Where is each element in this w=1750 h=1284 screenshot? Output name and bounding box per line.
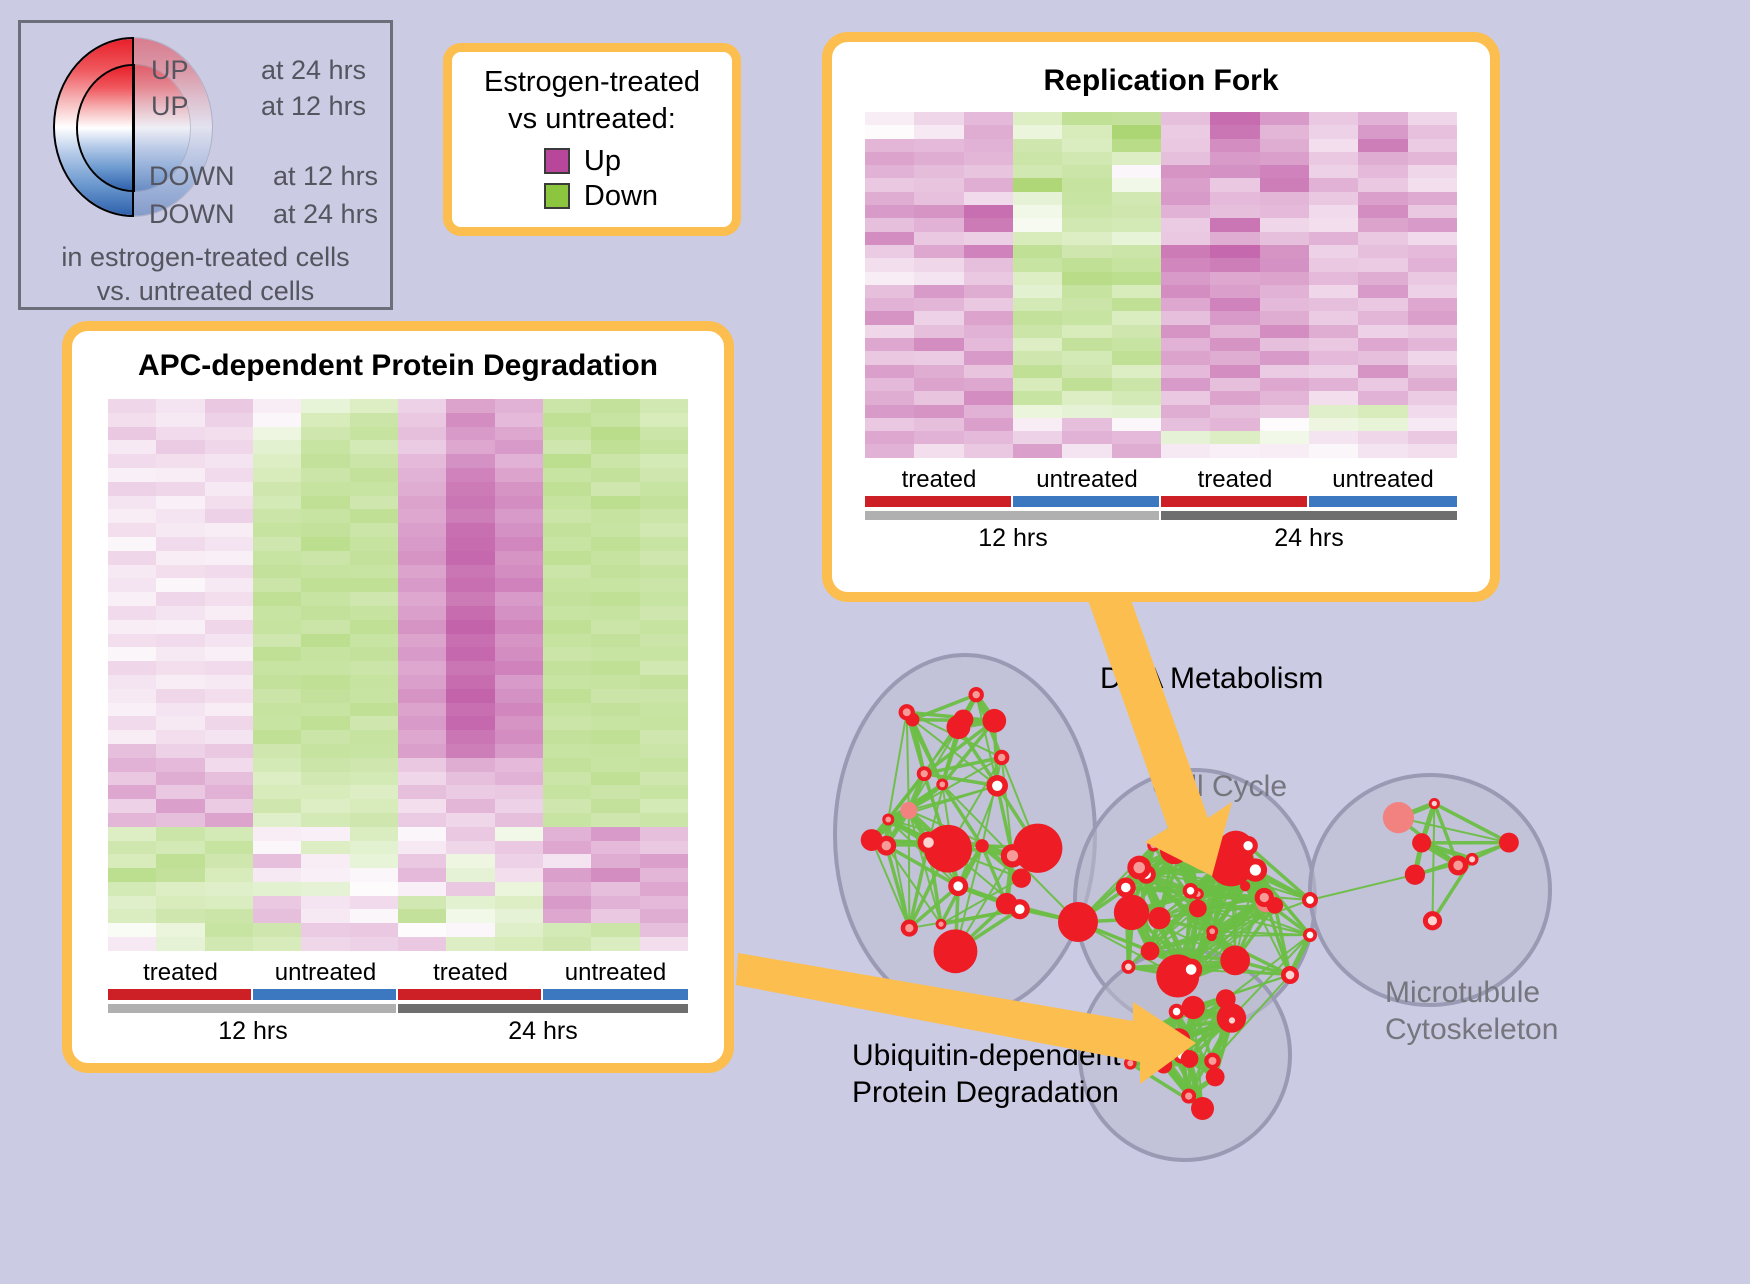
heatmap-cell xyxy=(1260,378,1309,391)
heatmap-cell xyxy=(865,165,914,178)
heatmap-cell xyxy=(205,509,253,523)
heatmap-cell xyxy=(865,192,914,205)
heatmap-cell xyxy=(446,440,494,454)
heatmap-cell xyxy=(495,551,543,565)
heatmap-cell xyxy=(253,744,301,758)
heatmap-cell xyxy=(914,444,963,457)
time-color-bar xyxy=(1161,511,1457,520)
heatmap-cell xyxy=(1358,365,1407,378)
heatmap-cell xyxy=(1013,338,1062,351)
heatmap-cell xyxy=(1112,112,1161,125)
heatmap-cell xyxy=(1062,431,1111,444)
heatmap-cell xyxy=(1210,245,1259,258)
heatmap-cell xyxy=(253,634,301,648)
network-node xyxy=(1182,996,1205,1019)
time-label: 24 hrs xyxy=(398,1017,688,1046)
heatmap-cell xyxy=(253,454,301,468)
heatmap-cell xyxy=(253,854,301,868)
heatmap-cell xyxy=(1161,378,1210,391)
heatmap-cell xyxy=(495,730,543,744)
heatmap-cell xyxy=(1161,311,1210,324)
network-node-core xyxy=(1125,964,1132,971)
heatmap-cell xyxy=(350,620,398,634)
heatmap-cell xyxy=(1161,205,1210,218)
heatmap-cell xyxy=(446,716,494,730)
heatmap-cell xyxy=(1358,192,1407,205)
heatmap-cell xyxy=(495,565,543,579)
heatmap-cell xyxy=(1309,218,1358,231)
heatmap-cell xyxy=(1013,139,1062,152)
heatmap-cell xyxy=(1210,351,1259,364)
heatmap-cell xyxy=(495,468,543,482)
heatmap-cell xyxy=(1260,418,1309,431)
heatmap-cell xyxy=(964,178,1013,191)
heatmap-cell xyxy=(156,799,204,813)
up-down-scale-diagram xyxy=(53,37,213,222)
heatmap-cell xyxy=(591,813,639,827)
heatmap-cell xyxy=(1013,418,1062,431)
heatmap-cell xyxy=(591,509,639,523)
heatmap-cell xyxy=(640,841,688,855)
heatmap-cell xyxy=(1112,418,1161,431)
heatmap-cell xyxy=(205,592,253,606)
heatmap-cell xyxy=(301,620,349,634)
legend-caption-line1: in estrogen-treated cells xyxy=(21,241,390,275)
heatmap-cell xyxy=(156,454,204,468)
heatmap-cell xyxy=(640,827,688,841)
heatmap-cell xyxy=(1358,245,1407,258)
heatmap-cell xyxy=(1013,272,1062,285)
heatmap-cell xyxy=(253,482,301,496)
heatmap-cell xyxy=(398,909,446,923)
heatmap-cell xyxy=(253,592,301,606)
heatmap-cell xyxy=(1013,298,1062,311)
heatmap-cell xyxy=(1309,391,1358,404)
heatmap-cell xyxy=(398,744,446,758)
heatmap-cell xyxy=(543,523,591,537)
heatmap-cell xyxy=(398,661,446,675)
heatmap-cell xyxy=(964,218,1013,231)
heatmap-cell xyxy=(640,937,688,951)
heatmap-cell xyxy=(398,841,446,855)
legend-time-up-12: at 12 hrs xyxy=(261,91,366,122)
heatmap-cell xyxy=(865,298,914,311)
heatmap-cell xyxy=(1408,139,1457,152)
heatmap-cell xyxy=(1112,258,1161,271)
heatmap-cell xyxy=(495,454,543,468)
heatmap-cell xyxy=(1309,418,1358,431)
heatmap-cell xyxy=(253,758,301,772)
heatmap-cell xyxy=(253,468,301,482)
heatmap-cell xyxy=(446,882,494,896)
heatmap-cell xyxy=(495,785,543,799)
heatmap-cell xyxy=(1408,378,1457,391)
legend-key-up-24: UP xyxy=(151,55,189,86)
heatmap-cell xyxy=(156,620,204,634)
heatmap-cell xyxy=(253,551,301,565)
heatmap-cell xyxy=(1408,311,1457,324)
heatmap-cell xyxy=(108,468,156,482)
heatmap-cell xyxy=(543,841,591,855)
heatmap-cell xyxy=(446,827,494,841)
heatmap-cell xyxy=(108,537,156,551)
heatmap-cell xyxy=(964,258,1013,271)
condition-color-bar xyxy=(253,989,398,1000)
heatmap-cell xyxy=(964,325,1013,338)
heatmap-cell xyxy=(865,378,914,391)
heatmap-cell xyxy=(301,634,349,648)
heatmap-cell xyxy=(543,716,591,730)
legend-time-down-12: at 12 hrs xyxy=(273,161,378,192)
heatmap-cell xyxy=(1309,444,1358,457)
heatmap-cell xyxy=(446,703,494,717)
heatmap-cell xyxy=(253,496,301,510)
network-node-core xyxy=(1121,883,1131,893)
network-node-core xyxy=(921,770,928,777)
heatmap-cell xyxy=(108,923,156,937)
heatmap-cell xyxy=(591,675,639,689)
heatmap-cell xyxy=(1112,218,1161,231)
heatmap-cell xyxy=(1161,218,1210,231)
heatmap-cell xyxy=(301,661,349,675)
heatmap-cell xyxy=(1210,232,1259,245)
heatmap-cell xyxy=(301,799,349,813)
heatmap-cell xyxy=(591,647,639,661)
heatmap-cell xyxy=(350,882,398,896)
heatmap-cell xyxy=(1210,405,1259,418)
heatmap-cell xyxy=(495,440,543,454)
heatmap-cell xyxy=(1013,192,1062,205)
heatmap-cell xyxy=(301,758,349,772)
heatmap-cell xyxy=(350,785,398,799)
network-node xyxy=(1405,865,1425,885)
heatmap-cell xyxy=(1013,365,1062,378)
heatmap-cell xyxy=(591,758,639,772)
heatmap-cell xyxy=(914,325,963,338)
heatmap-cell xyxy=(640,620,688,634)
heatmap-cell xyxy=(1062,232,1111,245)
heatmap-cell xyxy=(543,606,591,620)
heatmap-cell xyxy=(446,661,494,675)
heatmap-cell xyxy=(1161,325,1210,338)
heatmap-cell xyxy=(964,112,1013,125)
heatmap-cell xyxy=(591,799,639,813)
heatmap-cell xyxy=(1309,125,1358,138)
heatmap-cell xyxy=(156,730,204,744)
heatmap-cell xyxy=(1161,112,1210,125)
heatmap-cell xyxy=(301,427,349,441)
heatmap-cell xyxy=(253,909,301,923)
heatmap-cell xyxy=(1210,272,1259,285)
heatmap-cell xyxy=(301,937,349,951)
heatmap-cell xyxy=(591,703,639,717)
heatmap-cell xyxy=(301,523,349,537)
heatmap-cell xyxy=(398,813,446,827)
heatmap-cell xyxy=(495,523,543,537)
heatmap-cell xyxy=(591,427,639,441)
heatmap-cell xyxy=(108,785,156,799)
heatmap-cell xyxy=(398,716,446,730)
heatmap-cell xyxy=(640,468,688,482)
heatmap-cell xyxy=(301,509,349,523)
heatmap-cell xyxy=(1408,325,1457,338)
heatmap-cell xyxy=(1358,139,1407,152)
heatmap-cell xyxy=(640,758,688,772)
heatmap-cell xyxy=(543,565,591,579)
heatmap-cell xyxy=(398,923,446,937)
apc-degradation-heatmap xyxy=(108,399,688,951)
heatmap-cell xyxy=(1309,351,1358,364)
network-node xyxy=(1216,989,1236,1009)
heatmap-cell xyxy=(865,112,914,125)
heatmap-cell xyxy=(156,509,204,523)
heatmap-cell xyxy=(301,785,349,799)
heatmap-cell xyxy=(591,909,639,923)
heatmap-cell xyxy=(640,854,688,868)
network-node-core xyxy=(1007,850,1018,861)
heatmap-cell xyxy=(446,758,494,772)
heatmap-cell xyxy=(495,854,543,868)
heatmap-cell xyxy=(591,689,639,703)
heatmap-cell xyxy=(446,551,494,565)
heatmap-cell xyxy=(301,730,349,744)
heatmap-cell xyxy=(495,909,543,923)
heatmap-cell xyxy=(865,338,914,351)
heatmap-cell xyxy=(108,703,156,717)
heatmap-cell xyxy=(108,937,156,951)
heatmap-cell xyxy=(591,440,639,454)
heatmap-cell xyxy=(640,896,688,910)
heatmap-cell xyxy=(1062,272,1111,285)
network-node xyxy=(1147,1036,1169,1058)
heatmap-cell xyxy=(350,758,398,772)
heatmap-cell xyxy=(543,592,591,606)
heatmap-cell xyxy=(1408,165,1457,178)
heatmap-cell xyxy=(1358,285,1407,298)
heatmap-cell xyxy=(1260,218,1309,231)
heatmap-cell xyxy=(1309,311,1358,324)
heatmap-cell xyxy=(543,703,591,717)
microtubule-line2: Cytoskeleton xyxy=(1385,1012,1558,1049)
heatmap-cell xyxy=(398,882,446,896)
heatmap-cell xyxy=(1112,152,1161,165)
heatmap-cell xyxy=(1309,165,1358,178)
heatmap-cell xyxy=(1062,298,1111,311)
network-node-core xyxy=(973,691,980,698)
heatmap-cell xyxy=(1013,431,1062,444)
heatmap-cell xyxy=(156,882,204,896)
heatmap-cell xyxy=(108,813,156,827)
heatmap-cell xyxy=(1408,232,1457,245)
heatmap-cell xyxy=(1358,152,1407,165)
heatmap-cell xyxy=(398,565,446,579)
heatmap-cell xyxy=(108,744,156,758)
updown-legend-title: Estrogen-treated vs untreated: xyxy=(484,64,700,137)
heatmap-cell xyxy=(640,689,688,703)
heatmap-cell xyxy=(640,647,688,661)
heatmap-cell xyxy=(446,854,494,868)
time-label: 24 hrs xyxy=(1161,524,1457,553)
heatmap-cell xyxy=(865,391,914,404)
heatmap-cell xyxy=(108,772,156,786)
heatmap-cell xyxy=(543,799,591,813)
heatmap-cell xyxy=(398,606,446,620)
heatmap-cell xyxy=(495,937,543,951)
heatmap-cell xyxy=(1358,378,1407,391)
heatmap-cell xyxy=(301,565,349,579)
heatmap-cell xyxy=(591,578,639,592)
network-node xyxy=(975,839,988,852)
heatmap-cell xyxy=(1358,165,1407,178)
cluster-label-dna-metabolism: DNA Metabolism xyxy=(1100,662,1323,696)
heatmap-cell xyxy=(398,896,446,910)
heatmap-cell xyxy=(1210,378,1259,391)
heatmap-cell xyxy=(495,772,543,786)
heatmap-cell xyxy=(914,218,963,231)
heatmap-cell xyxy=(543,496,591,510)
heatmap-cell xyxy=(640,634,688,648)
heatmap-cell xyxy=(350,399,398,413)
network-node-core xyxy=(1186,964,1197,975)
heatmap-cell xyxy=(350,440,398,454)
heatmap-cell xyxy=(914,272,963,285)
heatmap-cell xyxy=(108,661,156,675)
heatmap-cell xyxy=(253,937,301,951)
network-node-core xyxy=(1469,856,1475,862)
updown-title-line2: vs untreated: xyxy=(484,101,700,137)
heatmap-cell xyxy=(865,152,914,165)
heatmap-cell xyxy=(1260,165,1309,178)
heatmap-cell xyxy=(398,868,446,882)
heatmap-cell xyxy=(1161,125,1210,138)
heatmap-cell xyxy=(543,772,591,786)
heatmap-cell xyxy=(156,578,204,592)
heatmap-cell xyxy=(205,551,253,565)
heatmap-cell xyxy=(865,272,914,285)
heatmap-cell xyxy=(301,537,349,551)
heatmap-cell xyxy=(914,431,963,444)
heatmap-cell xyxy=(205,468,253,482)
heatmap-cell xyxy=(543,896,591,910)
heatmap-cell xyxy=(1161,245,1210,258)
heatmap-cell xyxy=(398,578,446,592)
microtubule-line1: Microtubule xyxy=(1385,975,1558,1012)
heatmap-cell xyxy=(253,703,301,717)
heatmap-cell xyxy=(1358,391,1407,404)
network-node-core xyxy=(1187,887,1195,895)
heatmap-cell xyxy=(640,813,688,827)
heatmap-cell xyxy=(398,785,446,799)
heatmap-cell xyxy=(205,413,253,427)
legend-time-up-24: at 24 hrs xyxy=(261,55,366,86)
heatmap-cell xyxy=(964,125,1013,138)
heatmap-cell xyxy=(964,272,1013,285)
heatmap-cell xyxy=(964,245,1013,258)
heatmap-cell xyxy=(205,427,253,441)
heatmap-cell xyxy=(156,634,204,648)
heatmap-cell xyxy=(591,661,639,675)
heatmap-cell xyxy=(1112,139,1161,152)
condition-label: untreated xyxy=(1309,466,1457,494)
heatmap-cell xyxy=(398,509,446,523)
heatmap-cell xyxy=(253,785,301,799)
heatmap-cell xyxy=(350,454,398,468)
heatmap-cell xyxy=(108,909,156,923)
network-node-core xyxy=(923,837,934,848)
heatmap-cell xyxy=(350,647,398,661)
network-node-core xyxy=(1127,1060,1133,1066)
heatmap-cell xyxy=(253,841,301,855)
heatmap-cell xyxy=(1210,338,1259,351)
heatmap-cell xyxy=(1112,272,1161,285)
heatmap-cell xyxy=(591,399,639,413)
network-node xyxy=(934,929,978,973)
condition-color-bar xyxy=(108,989,253,1000)
heatmap-cell xyxy=(1358,112,1407,125)
condition-label: untreated xyxy=(1013,466,1161,494)
heatmap-cell xyxy=(914,112,963,125)
heatmap-cell xyxy=(495,841,543,855)
condition-color-bar xyxy=(398,989,543,1000)
heatmap-cell xyxy=(398,523,446,537)
heatmap-cell xyxy=(253,440,301,454)
heatmap-cell xyxy=(1260,258,1309,271)
network-node xyxy=(900,802,917,819)
ubiquitin-line2: Protein Degradation xyxy=(852,1075,1121,1112)
heatmap-cell xyxy=(108,413,156,427)
heatmap-cell xyxy=(1210,285,1259,298)
network-node xyxy=(1220,945,1250,975)
heatmap-cell xyxy=(1112,405,1161,418)
heatmap-cell xyxy=(156,689,204,703)
heatmap-cell xyxy=(108,854,156,868)
network-node-core xyxy=(882,841,891,850)
heatmap-cell xyxy=(301,482,349,496)
network-node xyxy=(953,710,973,730)
heatmap-cell xyxy=(156,937,204,951)
heatmap-cell xyxy=(495,923,543,937)
heatmap-cell xyxy=(914,232,963,245)
heatmap-cell xyxy=(495,634,543,648)
heatmap-cell xyxy=(914,285,963,298)
heatmap-cell xyxy=(350,565,398,579)
heatmap-cell xyxy=(1309,139,1358,152)
legend-key-down-12: DOWN xyxy=(149,161,234,192)
heatmap-cell xyxy=(398,537,446,551)
heatmap-cell xyxy=(591,482,639,496)
heatmap-cell xyxy=(1309,405,1358,418)
heatmap-cell xyxy=(1408,351,1457,364)
heatmap-cell xyxy=(964,378,1013,391)
heatmap-cell xyxy=(350,827,398,841)
heatmap-cell xyxy=(1210,258,1259,271)
heatmap-cell xyxy=(253,772,301,786)
heatmap-cell xyxy=(1408,218,1457,231)
heatmap-cell xyxy=(1161,444,1210,457)
heatmap-cell xyxy=(591,937,639,951)
heatmap-cell xyxy=(914,178,963,191)
heatmap-cell xyxy=(1309,245,1358,258)
heatmap-cell xyxy=(301,772,349,786)
heatmap-cell xyxy=(156,468,204,482)
heatmap-cell xyxy=(253,565,301,579)
heatmap-cell xyxy=(301,882,349,896)
heatmap-cell xyxy=(543,868,591,882)
heatmap-cell xyxy=(640,785,688,799)
heatmap-cell xyxy=(205,703,253,717)
heatmap-cell xyxy=(446,468,494,482)
network-node-core xyxy=(1432,801,1437,806)
